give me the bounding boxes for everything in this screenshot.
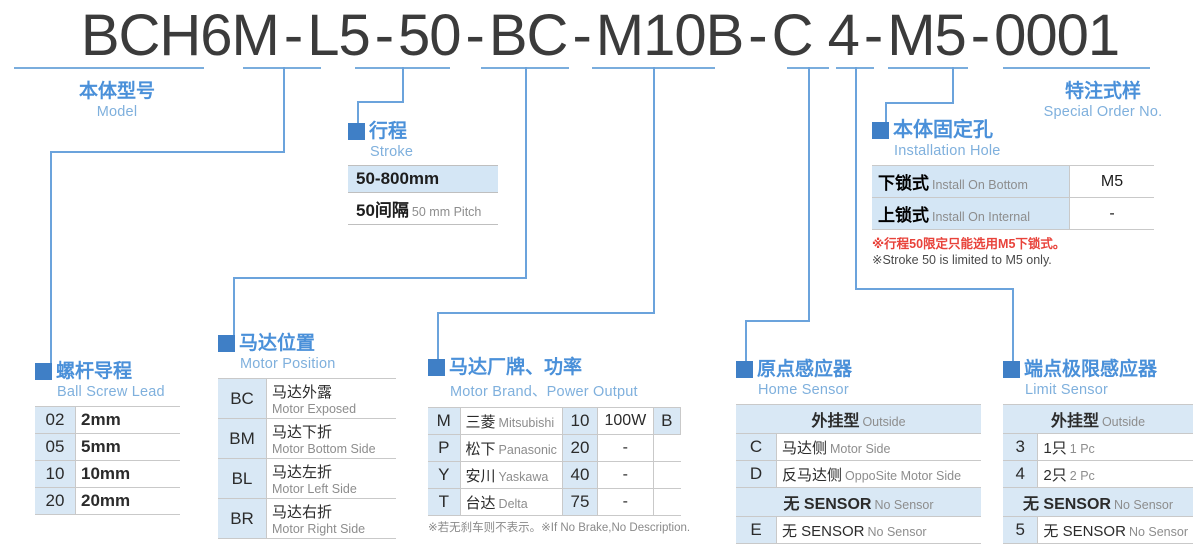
table-row[interactable]: 下锁式Install On Bottom M5: [872, 166, 1154, 198]
hs-en-2: No Sensor: [865, 525, 927, 539]
installation-hole-title-en: Installation Hole: [894, 143, 1154, 159]
ls-desc-0: 1只1 Pc: [1038, 434, 1193, 461]
mp-desc-0: 马达外露 Motor Exposed: [267, 379, 397, 419]
stroke-pitch: 50间隔50 mm Pitch: [348, 193, 498, 225]
ball-screw-title-en: Ball Screw Lead: [57, 384, 180, 400]
underline-lead: [243, 67, 321, 69]
hs-header-cn: 外挂型: [811, 413, 859, 430]
leader-hole-h1: [885, 102, 954, 104]
motor-brand-title-cn: 马达厂牌、功率: [449, 358, 582, 377]
leader-motorpos-v2: [233, 277, 235, 339]
ls-en-1: 2 Pc: [1067, 469, 1095, 483]
leader-home-v2: [745, 320, 747, 365]
motor-position-title-cn: 马达位置: [239, 334, 315, 353]
mb-en-3: Delta: [496, 497, 528, 511]
ih-internal-en: Install On Internal: [929, 210, 1030, 224]
model-title-cn: 本体型号: [52, 82, 182, 101]
code-dash-6: -: [860, 2, 886, 69]
code-segment-motor: M10B: [595, 2, 745, 69]
leader-model-v1: [283, 67, 285, 151]
model-title-en: Model: [52, 104, 182, 120]
ls-en-0: 1 Pc: [1067, 442, 1095, 456]
installation-hole-note-cn: ※行程50限定只能选用M5下锁式。: [872, 233, 1154, 252]
mp-code-3: BR: [218, 499, 267, 539]
leader-home-v1: [808, 67, 810, 320]
mp-code-1: BM: [218, 419, 267, 459]
code-segment-lead: L5: [306, 2, 371, 69]
limit-sensor-bullet-icon: [1003, 361, 1020, 378]
code-segment-sensors: C 4: [771, 2, 860, 69]
home-sensor-bullet-icon: [736, 361, 753, 378]
mb-brake-1: [653, 435, 680, 462]
hs-code-2: E: [736, 517, 777, 544]
mb-power-0: 100W: [598, 408, 654, 435]
leader-motor-v2: [437, 312, 439, 362]
underline-special: [1003, 67, 1150, 69]
hs-desc-1: 反马达侧OppoSite Motor Side: [777, 461, 982, 488]
table-row[interactable]: 02 2mm: [35, 407, 180, 434]
table-row[interactable]: BR 马达右折 Motor Right Side: [218, 499, 396, 539]
bs-value-0: 2mm: [76, 407, 181, 434]
hs-header-en: Outside: [859, 415, 905, 429]
table-row[interactable]: D 反马达侧OppoSite Motor Side: [736, 461, 981, 488]
ls-code-2: 5: [1003, 517, 1038, 544]
hs-cn-1: 反马达侧: [782, 467, 842, 484]
mb-code-2: Y: [428, 462, 460, 489]
mp-cn-0: 马达外露: [272, 381, 391, 402]
section-motor-brand: 马达厂牌、功率 Motor Brand、Power Output M 三菱Mit…: [428, 358, 690, 535]
motor-brand-title-en: Motor Brand、Power Output: [450, 380, 690, 401]
code-segment-special: 0001: [993, 2, 1120, 69]
underline-hole: [888, 67, 968, 69]
leader-motorpos-h1: [233, 277, 527, 279]
leader-motor-h1: [437, 312, 655, 314]
ih-internal-cn: 上锁式: [878, 206, 929, 225]
hs-code-0: C: [736, 434, 777, 461]
hs-subheader: 无 SENSORNo Sensor: [736, 488, 981, 517]
code-dash-1: -: [280, 2, 306, 69]
leader-model-h1: [50, 151, 285, 153]
ls-header-cn: 外挂型: [1051, 413, 1099, 430]
special-order-title-cn: 特注式样: [1028, 82, 1178, 101]
leader-model-v2: [50, 151, 52, 370]
ls-sub-en: No Sensor: [1111, 498, 1173, 512]
code-dash-2: -: [371, 2, 397, 69]
mp-code-2: BL: [218, 459, 267, 499]
section-installation-hole: 本体固定孔 Installation Hole 下锁式Install On Bo…: [872, 120, 1154, 267]
ls-code-1: 4: [1003, 461, 1038, 488]
ls-cn-1: 2只: [1043, 467, 1066, 484]
ls-desc-2: 无 SENSORNo Sensor: [1038, 517, 1193, 544]
table-row[interactable]: C 马达侧Motor Side: [736, 434, 981, 461]
mb-en-0: Mitsubishi: [496, 416, 555, 430]
stroke-title-en: Stroke: [370, 144, 498, 160]
table-row[interactable]: BL 马达左折 Motor Left Side: [218, 459, 396, 499]
table-row[interactable]: 10 10mm: [35, 461, 180, 488]
motor-position-title-en: Motor Position: [240, 356, 396, 372]
table-row[interactable]: BC 马达外露 Motor Exposed: [218, 379, 396, 419]
table-row[interactable]: E 无 SENSORNo Sensor: [736, 517, 981, 544]
bs-value-1: 5mm: [76, 434, 181, 461]
mp-cn-1: 马达下折: [272, 421, 391, 442]
ih-bottom-en: Install On Bottom: [929, 178, 1028, 192]
table-row[interactable]: 4 2只2 Pc: [1003, 461, 1193, 488]
table-row[interactable]: M 三菱Mitsubishi 10 100W B: [428, 408, 681, 435]
mb-code-0: M: [428, 408, 460, 435]
leader-motorpos-v1: [525, 67, 527, 277]
code-segment-hole: M5: [886, 2, 967, 69]
bs-value-2: 10mm: [76, 461, 181, 488]
ls-desc-1: 2只2 Pc: [1038, 461, 1193, 488]
code-segment-stroke: 50: [397, 2, 462, 69]
hs-code-1: D: [736, 461, 777, 488]
stroke-pitch-en: 50 mm Pitch: [409, 205, 481, 219]
limit-sensor-title-en: Limit Sensor: [1025, 382, 1193, 398]
hs-sub-en: No Sensor: [871, 498, 933, 512]
hs-header: 外挂型Outside: [736, 405, 981, 434]
ls-sub-cn: 无 SENSOR: [1023, 496, 1111, 513]
leader-limit-h1: [855, 288, 1012, 290]
table-row[interactable]: BM 马达下折 Motor Bottom Side: [218, 419, 396, 459]
installation-hole-bullet-icon: [872, 122, 889, 139]
motor-brand-table: M 三菱Mitsubishi 10 100W B P 松下Panasonic 2…: [428, 407, 681, 516]
mb-brand-2: 安川Yaskawa: [460, 462, 562, 489]
ls-cn-0: 1只: [1043, 440, 1066, 457]
ls-en-2: No Sensor: [1126, 525, 1188, 539]
code-dash-3: -: [462, 2, 488, 69]
mp-desc-3: 马达右折 Motor Right Side: [267, 499, 397, 539]
mb-pcode-1: 20: [562, 435, 597, 462]
section-stroke: 行程 Stroke 50-800mm 50间隔50 mm Pitch: [348, 122, 498, 225]
installation-hole-table: 下锁式Install On Bottom M5 上锁式Install On In…: [872, 165, 1154, 230]
section-home-sensor: 原点感应器 Home Sensor 外挂型Outside C 马达侧Motor …: [736, 360, 981, 544]
ls-code-0: 3: [1003, 434, 1038, 461]
section-model: 本体型号 Model: [52, 82, 182, 120]
leader-limit-v1: [855, 67, 857, 228]
limit-sensor-table: 外挂型Outside 3 1只1 Pc 4 2只2 Pc 无 SENSORNo …: [1003, 404, 1193, 544]
table-row[interactable]: 上锁式Install On Internal -: [872, 198, 1154, 230]
mp-en-3: Motor Right Side: [272, 522, 391, 536]
hs-desc-2: 无 SENSORNo Sensor: [777, 517, 982, 544]
mp-cn-3: 马达右折: [272, 501, 391, 522]
mb-power-2: -: [598, 462, 654, 489]
hs-cn-2: 无 SENSOR: [782, 523, 865, 540]
home-sensor-title-en: Home Sensor: [758, 382, 981, 398]
ls-header-en: Outside: [1099, 415, 1145, 429]
mb-brand-0: 三菱Mitsubishi: [460, 408, 562, 435]
mp-en-0: Motor Exposed: [272, 402, 391, 416]
code-dash-5: -: [744, 2, 770, 69]
table-row[interactable]: Y 安川Yaskawa 40 -: [428, 462, 681, 489]
product-code: BCH6M - L5 - 50 - BC - M10B - C 4 - M5 -…: [0, 4, 1200, 66]
hs-en-1: OppoSite Motor Side: [842, 469, 961, 483]
limit-sensor-title-cn: 端点极限感应器: [1024, 360, 1157, 379]
mb-power-3: -: [598, 489, 654, 516]
ls-cn-2: 无 SENSOR: [1043, 523, 1126, 540]
table-row[interactable]: 5 无 SENSORNo Sensor: [1003, 517, 1193, 544]
mb-cn-2: 安川: [466, 468, 496, 485]
ih-internal-value: -: [1070, 198, 1155, 230]
section-special-order: 特注式样 Special Order No.: [1028, 82, 1178, 120]
ball-screw-bullet-icon: [35, 363, 52, 380]
mp-desc-1: 马达下折 Motor Bottom Side: [267, 419, 397, 459]
mb-brake-3: [653, 489, 680, 516]
leader-limit-v2: [855, 228, 857, 288]
code-segment-model: BCH6M: [80, 2, 280, 69]
mb-cn-3: 台达: [466, 495, 496, 512]
hs-cn-0: 马达侧: [782, 440, 827, 457]
stroke-bullet-icon: [348, 123, 365, 140]
motor-brand-bullet-icon: [428, 359, 445, 376]
ih-bottom-cn: 下锁式: [878, 174, 929, 193]
special-order-title-en: Special Order No.: [1028, 104, 1178, 120]
leader-home-h1: [745, 320, 810, 322]
ih-label-internal: 上锁式Install On Internal: [872, 198, 1070, 230]
ih-label-bottom: 下锁式Install On Bottom: [872, 166, 1070, 198]
ls-header: 外挂型Outside: [1003, 405, 1193, 434]
mb-brand-1: 松下Panasonic: [460, 435, 562, 462]
mb-power-1: -: [598, 435, 654, 462]
stroke-values: 50-800mm 50间隔50 mm Pitch: [348, 165, 498, 225]
table-row[interactable]: T 台达Delta 75 -: [428, 489, 681, 516]
mp-code-0: BC: [218, 379, 267, 419]
mb-brand-3: 台达Delta: [460, 489, 562, 516]
mb-cn-0: 三菱: [466, 414, 496, 431]
motor-position-bullet-icon: [218, 335, 235, 352]
mb-pcode-0: 10: [562, 408, 597, 435]
home-sensor-table: 外挂型Outside C 马达侧Motor Side D 反马达侧OppoSit…: [736, 404, 981, 544]
table-header-row: 外挂型Outside: [736, 405, 981, 434]
bs-code-3: 20: [35, 488, 76, 515]
code-dash-7: -: [967, 2, 993, 69]
mp-en-1: Motor Bottom Side: [272, 442, 391, 456]
section-limit-sensor: 端点极限感应器 Limit Sensor 外挂型Outside 3 1只1 Pc…: [1003, 360, 1193, 544]
hs-sub-cn: 无 SENSOR: [783, 496, 871, 513]
table-row[interactable]: 05 5mm: [35, 434, 180, 461]
home-sensor-title-cn: 原点感应器: [757, 360, 852, 379]
installation-hole-title-cn: 本体固定孔: [893, 120, 993, 140]
mb-brake-2: [653, 462, 680, 489]
mb-en-1: Panasonic: [496, 443, 557, 457]
section-ball-screw-lead: 螺杆导程 Ball Screw Lead 02 2mm 05 5mm 10 10…: [35, 362, 180, 515]
mb-en-2: Yaskawa: [496, 470, 549, 484]
ih-bottom-value: M5: [1070, 166, 1155, 198]
table-header-row: 外挂型Outside: [1003, 405, 1193, 434]
leader-motor-v1: [653, 67, 655, 312]
stroke-pitch-cn: 50间隔: [356, 201, 409, 220]
stroke-range: 50-800mm: [348, 165, 498, 193]
mb-pcode-2: 40: [562, 462, 597, 489]
motor-position-table: BC 马达外露 Motor Exposed BM 马达下折 Motor Bott…: [218, 378, 396, 539]
bs-code-2: 10: [35, 461, 76, 488]
mp-desc-2: 马达左折 Motor Left Side: [267, 459, 397, 499]
ball-screw-title-cn: 螺杆导程: [56, 362, 132, 381]
underline-model: [14, 67, 204, 69]
leader-stroke-h1: [357, 101, 404, 103]
table-row[interactable]: P 松下Panasonic 20 -: [428, 435, 681, 462]
leader-hole-v1: [952, 67, 954, 102]
mp-cn-2: 马达左折: [272, 461, 391, 482]
bs-code-1: 05: [35, 434, 76, 461]
bs-code-0: 02: [35, 407, 76, 434]
section-motor-position: 马达位置 Motor Position BC 马达外露 Motor Expose…: [218, 334, 396, 539]
motor-brand-footnote: ※若无刹车则不表示。※If No Brake,No Description.: [428, 519, 690, 535]
mb-code-1: P: [428, 435, 460, 462]
mb-code-3: T: [428, 489, 460, 516]
stroke-title-cn: 行程: [369, 122, 407, 141]
leader-stroke-v1: [402, 67, 404, 101]
installation-hole-note-en: ※Stroke 50 is limited to M5 only.: [872, 252, 1154, 267]
bs-value-3: 20mm: [76, 488, 181, 515]
table-subheader-row: 无 SENSORNo Sensor: [1003, 488, 1193, 517]
mb-cn-1: 松下: [466, 441, 496, 458]
table-subheader-row: 无 SENSORNo Sensor: [736, 488, 981, 517]
code-segment-motorpos: BC: [488, 2, 569, 69]
mb-brake-0: B: [653, 408, 680, 435]
hs-desc-0: 马达侧Motor Side: [777, 434, 982, 461]
hs-en-0: Motor Side: [827, 442, 890, 456]
ls-subheader: 无 SENSORNo Sensor: [1003, 488, 1193, 517]
mp-en-2: Motor Left Side: [272, 482, 391, 496]
mb-pcode-3: 75: [562, 489, 597, 516]
table-row[interactable]: 20 20mm: [35, 488, 180, 515]
table-row[interactable]: 3 1只1 Pc: [1003, 434, 1193, 461]
code-dash-4: -: [568, 2, 594, 69]
ball-screw-table: 02 2mm 05 5mm 10 10mm 20 20mm: [35, 406, 180, 515]
leader-limit-v3: [1012, 288, 1014, 365]
